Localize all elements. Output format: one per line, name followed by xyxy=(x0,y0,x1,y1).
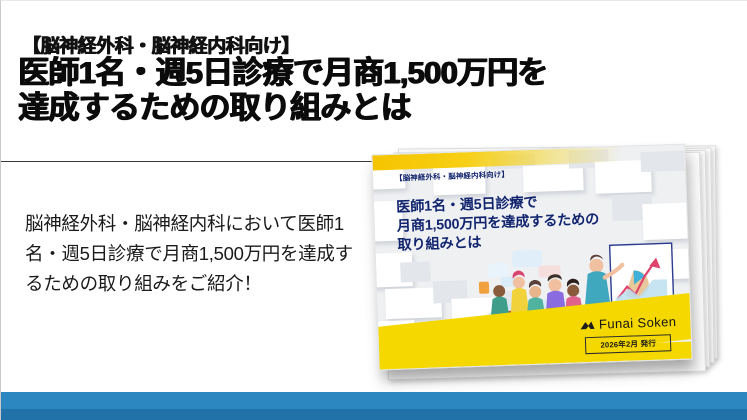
landing-page-banner: 【脳神経外科・脳神経内科向け】 医師1名・週5日診療で月商1,500万円を 達成… xyxy=(0,0,747,420)
brochure-cover: 【脳神経外科・脳神経内科向け】 医師1名・週5日診療で 月商1,500万円を達成… xyxy=(371,144,692,371)
page-title-line-2: 達成するための取り組みとは xyxy=(18,91,738,126)
bottom-bar-light-strip xyxy=(1,392,747,409)
description-text: 脳神経外科・脳神経内科において医師1名・週5日診療で月商1,500万円を達成する… xyxy=(25,209,370,299)
page-title: 医師1名・週5日診療で月商1,500万円を 達成するための取り組みとは xyxy=(18,56,738,125)
logo-text: Funai Soken xyxy=(599,314,677,332)
bottom-bar-dark-strip xyxy=(1,409,747,420)
header-zone: 【脳神経外科・脳神経内科向け】 医師1名・週5日診療で月商1,500万円を 達成… xyxy=(1,1,747,161)
horizontal-divider xyxy=(1,161,379,162)
funai-mountain-icon xyxy=(579,318,595,331)
bottom-blue-bar xyxy=(1,392,747,420)
publication-date-badge: 2026年2月 発行 xyxy=(585,334,671,354)
header-eyebrow: 【脳神経外科・脳神経内科向け】 xyxy=(22,31,300,58)
brochure-mockup: 【脳神経外科・脳神経内科向け】 医師1名・週5日診療で 月商1,500万円を達成… xyxy=(373,139,733,389)
page-title-line-1: 医師1名・週5日診療で月商1,500万円を xyxy=(18,56,738,91)
